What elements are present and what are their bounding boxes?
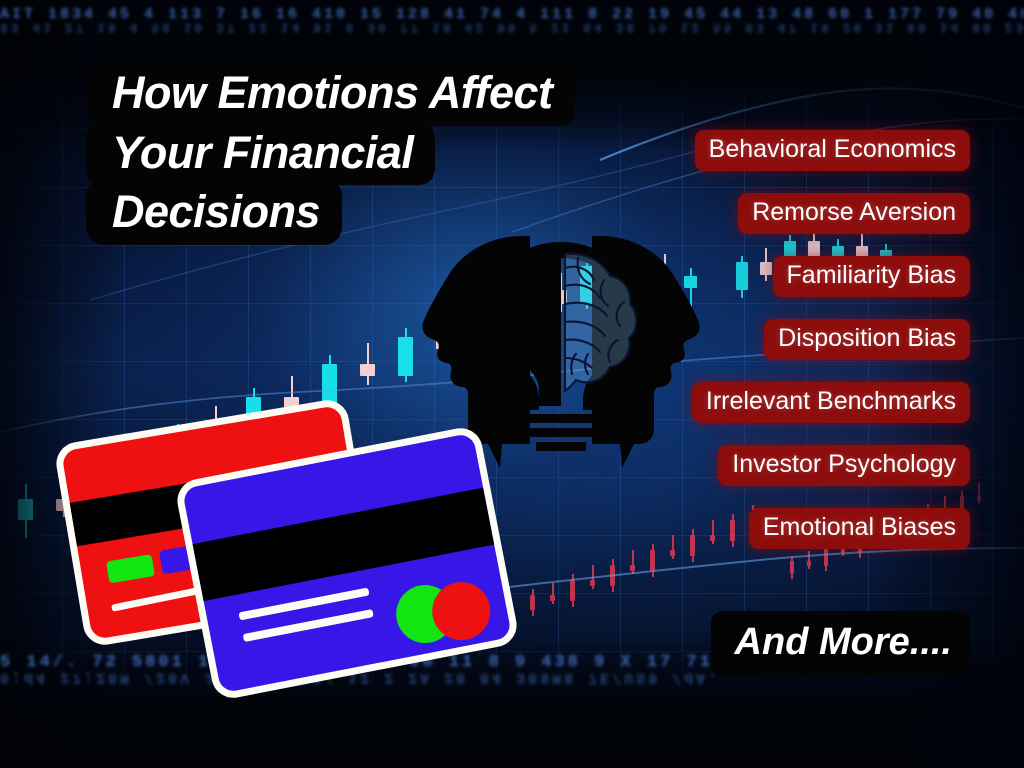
candlestick-body: [650, 550, 655, 571]
candlestick-body: [590, 580, 595, 586]
topic-chip-familiarity-bias[interactable]: Familiarity Bias: [773, 256, 970, 297]
candlestick-wick: [808, 551, 810, 569]
candlestick: [590, 565, 595, 589]
candlestick-body: [398, 337, 413, 376]
title-line-1: How Emotions Affect: [86, 62, 575, 126]
topic-chip-investor-psychology[interactable]: Investor Psychology: [718, 445, 970, 486]
candlestick: [610, 559, 615, 592]
title-line-2: Your Financial: [86, 122, 435, 186]
topic-chip-remorse-aversion[interactable]: Remorse Aversion: [738, 193, 970, 234]
candlestick: [360, 343, 375, 385]
candlestick: [790, 556, 794, 579]
topic-label-list: Behavioral Economics Remorse Aversion Fa…: [450, 130, 970, 549]
title-line-3: Decisions: [86, 181, 342, 245]
candlestick-body: [570, 580, 575, 601]
candlestick: [550, 583, 555, 604]
candlestick-body: [790, 561, 794, 574]
candlestick-body: [670, 550, 675, 556]
candlestick: [807, 551, 811, 569]
candlestick: [570, 574, 575, 607]
and-more-label: And More....: [711, 611, 970, 676]
candlestick-body: [824, 548, 828, 566]
candlestick-body: [807, 561, 811, 566]
candlestick-body: [610, 565, 615, 586]
ticker-text-top-mirror: 83 41 27 19 4 58 10 37 22 14 91 6 30 77 …: [0, 20, 1024, 35]
topic-chip-disposition-bias[interactable]: Disposition Bias: [764, 319, 970, 360]
topic-chip-behavioral-economics[interactable]: Behavioral Economics: [695, 130, 970, 171]
topic-chip-emotional-biases[interactable]: Emotional Biases: [749, 508, 970, 549]
poster-canvas: AIT 1834 45 4 113 7 16 16 410 15 128 41 …: [0, 0, 1024, 768]
candlestick-body: [530, 595, 535, 610]
candlestick: [530, 589, 535, 616]
candlestick: [630, 550, 635, 574]
candlestick-body: [360, 364, 375, 376]
candlestick-body: [550, 595, 555, 601]
candlestick-body: [630, 565, 635, 571]
topic-chip-irrelevant-benchmarks[interactable]: Irrelevant Benchmarks: [692, 382, 970, 423]
candlestick: [398, 328, 413, 382]
card-red-chip: [106, 554, 155, 583]
